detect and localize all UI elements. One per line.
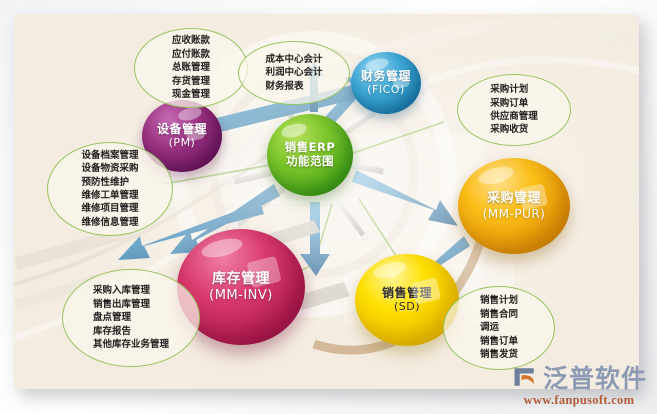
list-item: 销售合同	[480, 308, 518, 321]
list-item: 利润中心会计	[265, 66, 322, 79]
list-item: 盘点管理	[93, 311, 169, 324]
gloss-highlight	[372, 259, 408, 281]
list-item: 维修工单管理	[81, 189, 138, 202]
node-pm-label-en: (PM)	[169, 137, 196, 150]
list-item: 销售计划	[480, 294, 518, 307]
watermark-brand-row: 泛普软件	[511, 359, 647, 395]
node-fico-label-en: (FICO)	[367, 84, 405, 97]
callout-plant-maintenance[interactable]: 设备档案管理 设备物资采购 预防性维护 维修工单管理 维修项目管理 维修信息管理	[47, 142, 173, 236]
watermark: 泛普软件 www.fanpusoft.com	[511, 359, 647, 408]
node-inv-label-cn: 库存管理	[212, 271, 270, 288]
callout-accounts[interactable]: 应收账款 应付账款 总账管理 存货管理 现金管理	[134, 28, 248, 108]
node-fico[interactable]: 财务管理 (FICO)	[351, 52, 421, 114]
gloss-highlight	[280, 121, 308, 140]
node-center-label-cn: 销售ERP	[285, 141, 336, 155]
list-item: 调运	[480, 321, 518, 334]
watermark-brand: 泛普软件	[543, 359, 647, 395]
list-item: 存货管理	[172, 75, 210, 88]
callout-inventory[interactable]: 采购入库管理 销售出库管理 盘点管理 库存报告 其他库存业务管理	[62, 269, 200, 367]
list-item: 应付账款	[172, 48, 210, 61]
diagram-card: 销售ERP 功能范围 设备管理 (PM) 财务管理 (FICO) 采购管理 (M…	[14, 14, 639, 389]
callout-sales[interactable]: 销售计划 销售合同 调运 销售订单 销售发货	[443, 286, 555, 370]
list-item: 应收账款	[172, 34, 210, 47]
list-item: 财务报表	[265, 80, 322, 93]
callout-inventory-list: 采购入库管理 销售出库管理 盘点管理 库存报告 其他库存业务管理	[93, 284, 169, 351]
list-item: 采购入库管理	[93, 284, 169, 297]
node-pur-label-en: (MM-PUR)	[483, 207, 546, 221]
callout-purchasing[interactable]: 采购计划 采购订单 供应商管理 采购收货	[457, 74, 571, 146]
list-item: 采购收货	[490, 123, 538, 136]
list-item: 总账管理	[172, 61, 210, 74]
list-item: 供应商管理	[490, 110, 538, 123]
node-sd-label-cn: 销售管理	[382, 286, 432, 300]
list-item: 其他库存业务管理	[93, 338, 169, 351]
screenshot-canvas: 销售ERP 功能范围 设备管理 (PM) 财务管理 (FICO) 采购管理 (M…	[0, 0, 657, 414]
gloss-highlight	[477, 164, 516, 187]
callout-controlling[interactable]: 成本中心会计 利润中心会计 财务报表	[238, 41, 350, 105]
list-item: 设备档案管理	[81, 149, 138, 162]
list-item: 销售出库管理	[93, 298, 169, 311]
callout-sales-list: 销售计划 销售合同 调运 销售订单 销售发货	[480, 294, 518, 361]
list-item: 销售订单	[480, 335, 518, 348]
node-fico-label-cn: 财务管理	[361, 69, 411, 83]
fanpu-logo-icon	[511, 363, 539, 391]
list-item: 维修项目管理	[81, 202, 138, 215]
node-sd-label-en: (SD)	[394, 301, 420, 314]
watermark-url: www.fanpusoft.com	[524, 393, 635, 408]
gloss-highlight	[200, 235, 245, 261]
list-item: 设备物资采购	[81, 162, 138, 175]
list-item: 预防性维护	[81, 176, 138, 189]
list-item: 库存报告	[93, 325, 169, 338]
list-item: 采购计划	[490, 83, 538, 96]
list-item: 维修信息管理	[81, 216, 138, 229]
list-item: 成本中心会计	[265, 53, 322, 66]
list-item: 采购订单	[490, 97, 538, 110]
node-pur-label-cn: 采购管理	[487, 191, 541, 206]
node-center-erp[interactable]: 销售ERP 功能范围	[267, 114, 353, 196]
node-pm-label-cn: 设备管理	[157, 122, 207, 136]
callout-controlling-list: 成本中心会计 利润中心会计 财务报表	[265, 53, 322, 93]
node-inv-label-en: (MM-INV)	[209, 288, 273, 303]
callout-plant-maintenance-list: 设备档案管理 设备物资采购 预防性维护 维修工单管理 维修项目管理 维修信息管理	[81, 149, 138, 230]
callout-purchasing-list: 采购计划 采购订单 供应商管理 采购收货	[490, 83, 538, 137]
node-pur[interactable]: 采购管理 (MM-PUR)	[458, 158, 570, 254]
callout-accounts-list: 应收账款 应付账款 总账管理 存货管理 现金管理	[172, 34, 210, 101]
list-item: 现金管理	[172, 88, 210, 101]
node-center-label-en: 功能范围	[286, 155, 334, 169]
